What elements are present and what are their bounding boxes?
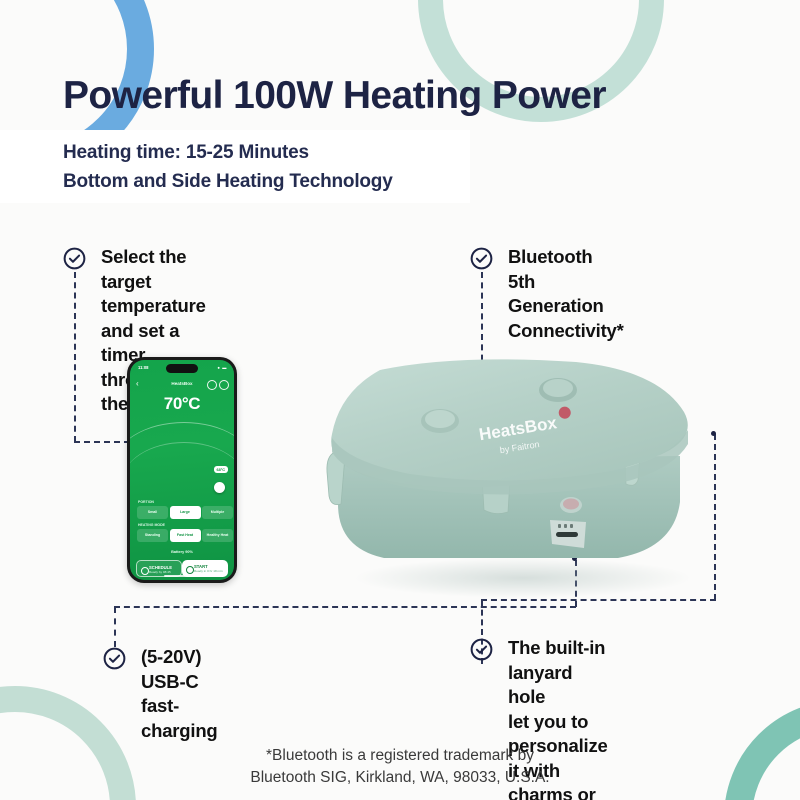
subtitle-heating-technology: Bottom and Side Heating Technology [63,171,393,193]
product-usbc-port [556,532,578,537]
phone-start-label: START [194,564,208,569]
page-title: Powerful 100W Heating Power [63,74,606,118]
phone-portion-option-1[interactable]: Large [170,506,201,519]
phone-portion-option-2[interactable]: Multiple [202,506,233,519]
check-circle-icon [103,647,126,670]
phone-status-time: 11:08 [138,365,148,370]
phone-mockup: 11:08 ● ▬ ‹ HeatsBox 70°C 68°C PORTION S… [127,357,237,583]
download-icon[interactable] [207,380,217,390]
connector-app-vertical [74,272,76,442]
phone-nav-bar: ‹ HeatsBox [130,379,234,390]
phone-schedule-label: SCHEDULE [149,565,172,570]
check-circle-icon [470,247,493,270]
phone-portion-group-label: PORTION [138,500,154,504]
phone-portion-segmented-control: Small Large Multiple [137,506,233,519]
check-circle-icon [470,638,493,661]
phone-status-icons: ● ▬ [217,365,227,370]
phone-battery-status: Battery 90% [130,550,234,554]
footer-disclaimer: *Bluetooth is a registered trademark by … [0,745,800,789]
product-image-heatsbox: HeatsBox by Faitron [318,352,718,602]
product-svg: HeatsBox by Faitron [318,352,718,602]
play-icon [186,566,194,574]
infographic-page: Powerful 100W Heating Power Heating time… [0,0,800,800]
check-circle-icon [63,247,86,270]
phone-target-temperature: 70°C [130,394,234,414]
phone-mode-option-0[interactable]: Standing [137,529,168,542]
product-shadow [355,558,691,598]
phone-mode-segmented-control: Standing Fast Heat Healthy Heat [137,529,233,542]
feature-label-bluetooth: Bluetooth 5th Generation Connectivity* [508,245,624,343]
phone-mode-group-label: HEATING MODE [138,523,165,527]
phone-screen: 11:08 ● ▬ ‹ HeatsBox 70°C 68°C PORTION S… [130,360,234,580]
phone-notch [166,364,198,373]
clock-icon [141,567,149,575]
feature-label-usbc: (5-20V) USB-C fast-charging [141,645,218,743]
phone-start-sublabel: Ready in 0 hr 18 min [194,569,223,573]
gear-icon[interactable] [219,380,229,390]
phone-dial-knob[interactable] [214,482,225,493]
subtitle-heating-time: Heating time: 15-25 Minutes [63,142,309,164]
phone-schedule-sublabel: Ready by 08:45 [149,570,171,574]
connector-usbc-horizontal [114,606,576,608]
phone-mode-option-1[interactable]: Fast Heat [170,529,201,542]
phone-dial-value-badge: 68°C [214,466,228,473]
connector-usbc-vertical [114,607,116,647]
phone-mode-option-2[interactable]: Healthy Heat [202,529,233,542]
phone-portion-option-0[interactable]: Small [137,506,168,519]
